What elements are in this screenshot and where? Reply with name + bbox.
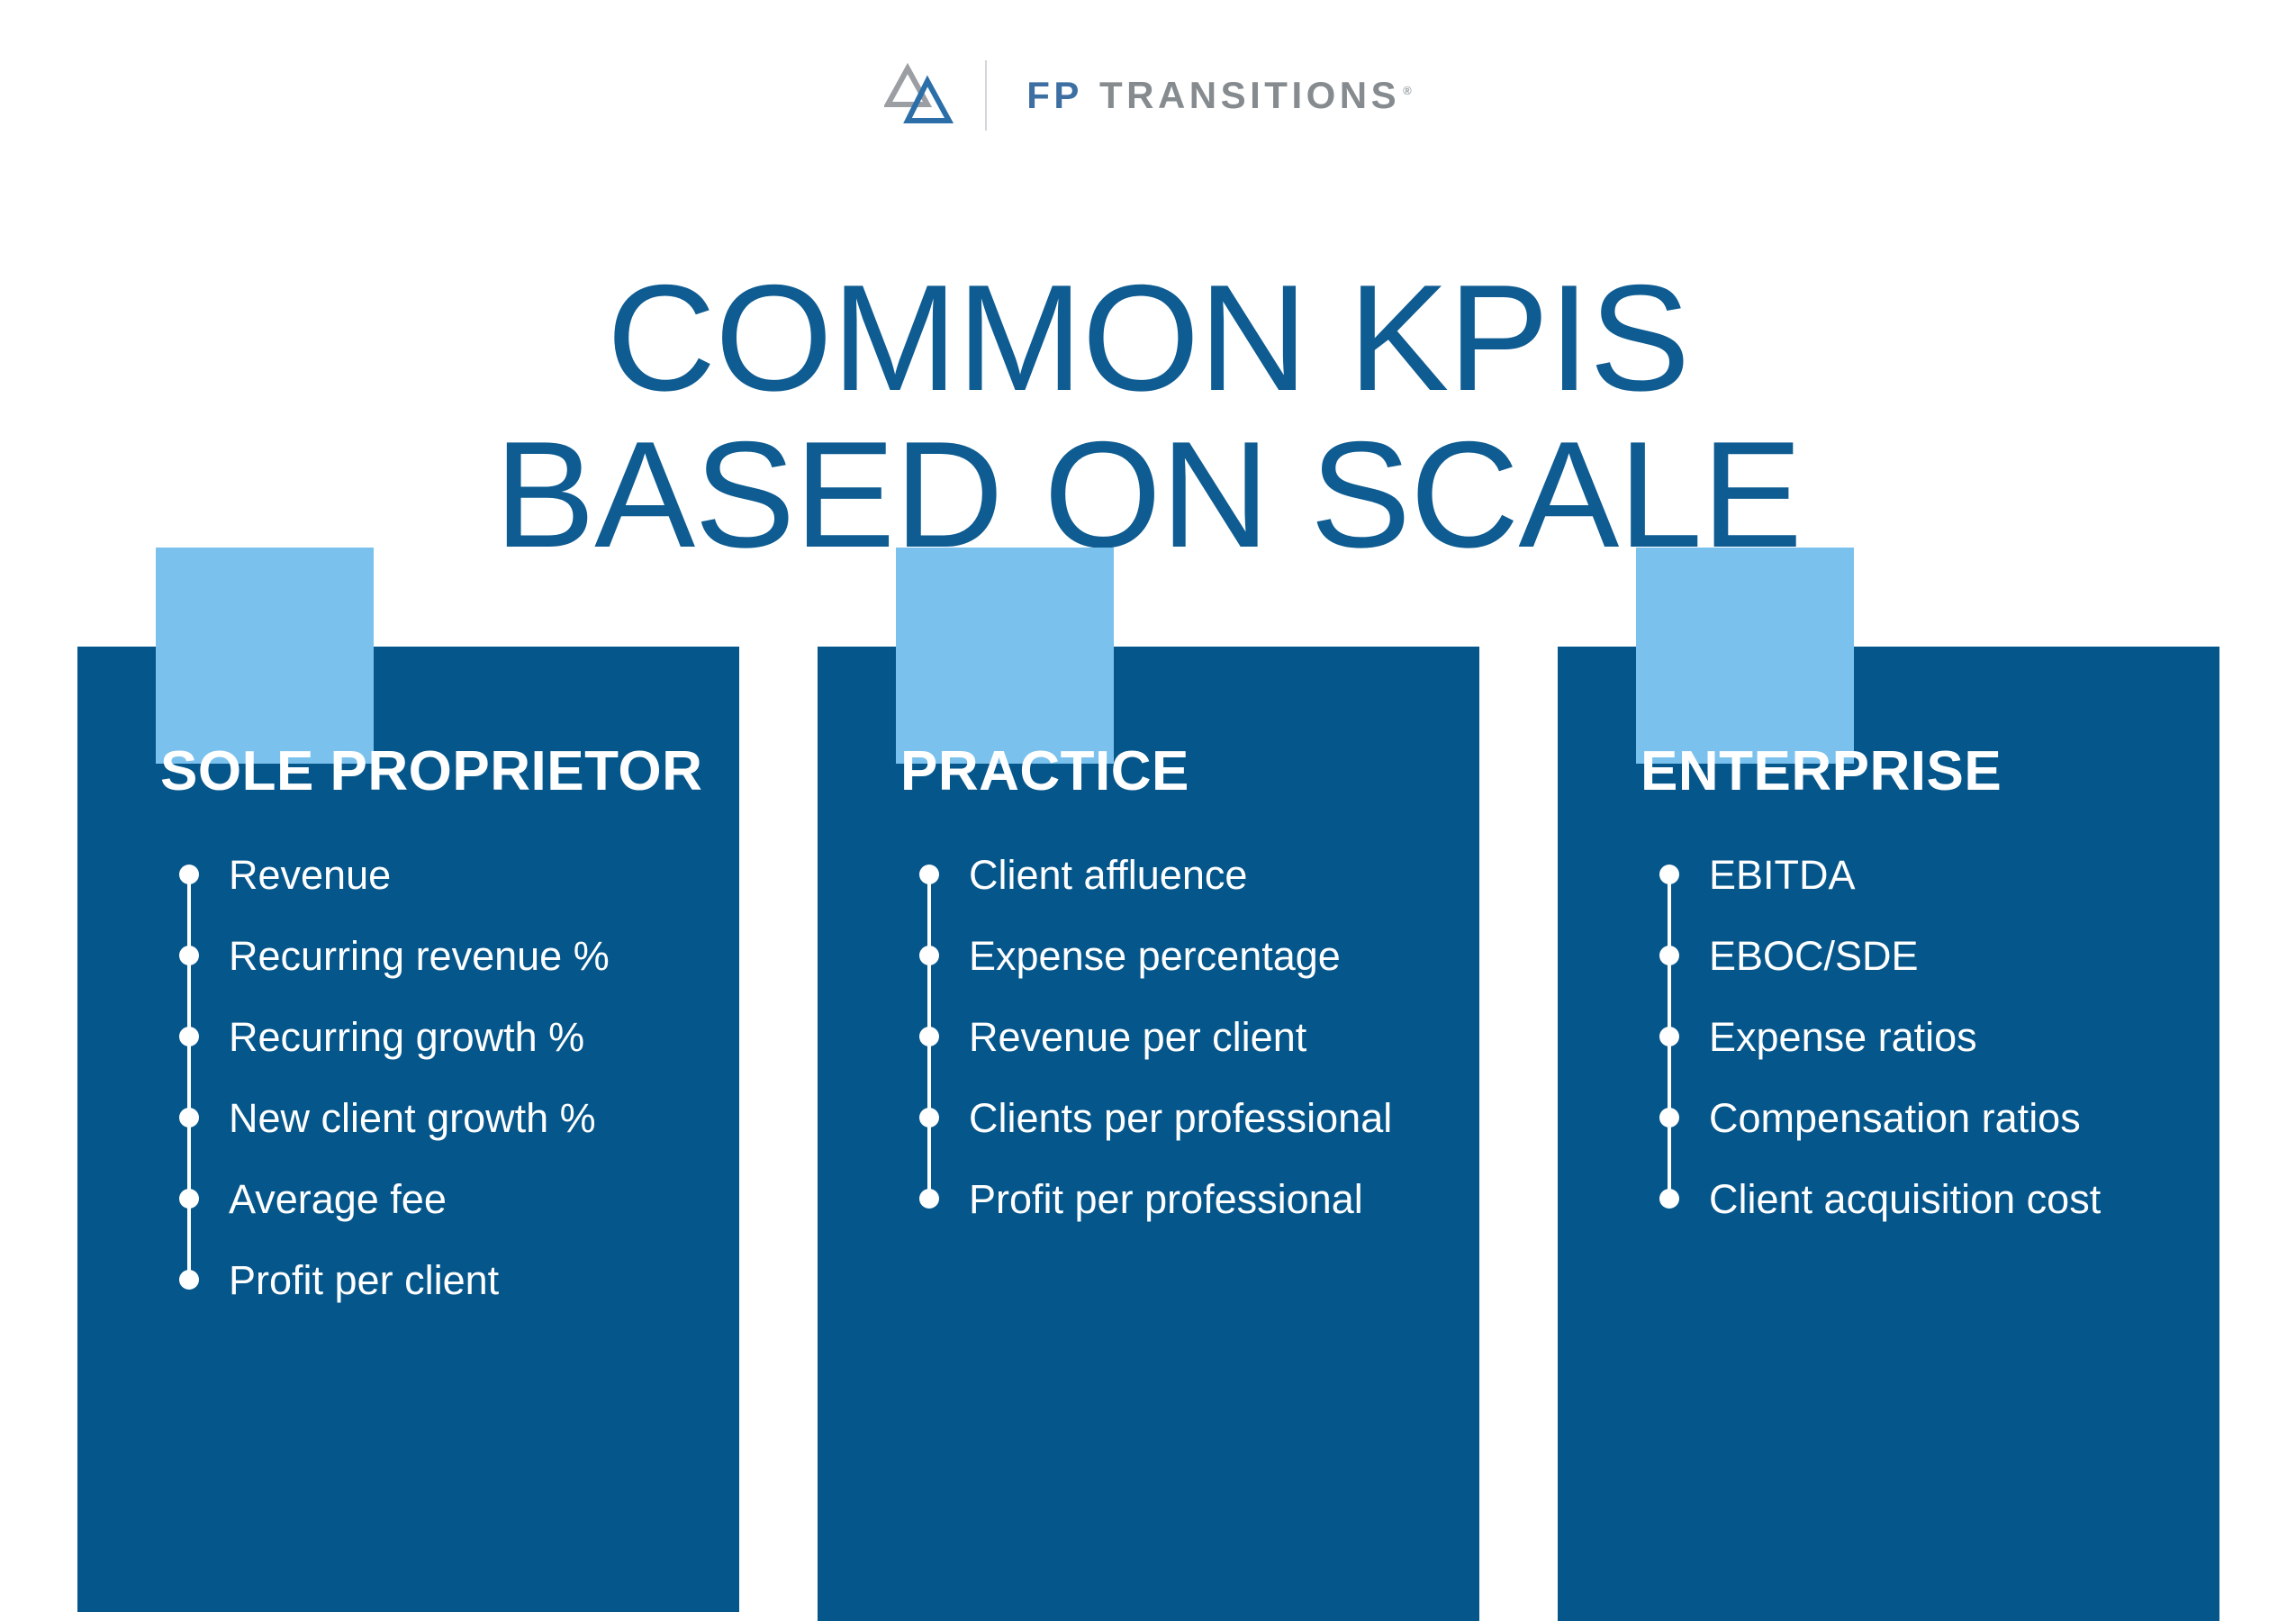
card-heading: ENTERPRISE xyxy=(1641,744,2002,800)
kpi-label: Expense ratios xyxy=(1709,1017,1977,1057)
kpi-list-item: Compensation ratios xyxy=(1655,1077,2101,1158)
kpi-list-item: Client acquisition cost xyxy=(1655,1158,2101,1239)
bullet-dot-icon xyxy=(1659,1027,1679,1046)
bullet-dot-icon xyxy=(179,1108,199,1127)
kpi-label: Revenue per client xyxy=(969,1017,1306,1057)
kpi-label: Average fee xyxy=(229,1179,447,1219)
card-heading: SOLE PROPRIETOR xyxy=(160,744,702,800)
timeline-connector xyxy=(187,874,191,955)
kpi-list-item: Revenue per client xyxy=(915,996,1392,1077)
kpi-list-item: Profit per professional xyxy=(915,1158,1392,1239)
kpi-list-item: Revenue xyxy=(175,834,610,915)
card-accent-tab xyxy=(896,548,1114,764)
bullet-dot-icon xyxy=(179,865,199,884)
bullet-dot-icon xyxy=(179,1189,199,1209)
kpi-list-item: Client affluence xyxy=(915,834,1392,915)
kpi-list: Client affluence Expense percentage Reve… xyxy=(915,834,1392,1239)
kpi-label: New client growth % xyxy=(229,1098,596,1138)
kpi-list-item: EBITDA xyxy=(1655,834,2101,915)
bullet-dot-icon xyxy=(919,1189,939,1209)
bullet-dot-icon xyxy=(179,1027,199,1046)
bullet-dot-icon xyxy=(919,865,939,884)
kpi-label: EBOC/SDE xyxy=(1709,936,1919,976)
bullet-dot-icon xyxy=(1659,1108,1679,1127)
timeline-connector xyxy=(187,955,191,1037)
kpi-list-item: Clients per professional xyxy=(915,1077,1392,1158)
timeline-connector xyxy=(187,1199,191,1280)
kpi-list-item: Expense percentage xyxy=(915,915,1392,996)
kpi-card-enterprise: ENTERPRISE EBITDA EBOC/SDE Expense ratio… xyxy=(1558,548,2219,1621)
kpi-label: Profit per professional xyxy=(969,1179,1363,1219)
kpi-label: Clients per professional xyxy=(969,1098,1392,1138)
bullet-dot-icon xyxy=(179,1270,199,1290)
kpi-card-practice: PRACTICE Client affluence Expense percen… xyxy=(818,548,1479,1621)
kpi-list-item: Average fee xyxy=(175,1158,610,1239)
bullet-dot-icon xyxy=(919,946,939,965)
timeline-connector xyxy=(927,955,931,1037)
bullet-dot-icon xyxy=(179,946,199,965)
kpi-label: Revenue xyxy=(229,855,391,895)
timeline-connector xyxy=(187,1118,191,1199)
kpi-list-item: Recurring growth % xyxy=(175,996,610,1077)
kpi-label: Profit per client xyxy=(229,1260,499,1300)
kpi-card-group: SOLE PROPRIETOR Revenue Recurring revenu… xyxy=(0,0,2296,1621)
kpi-label: Compensation ratios xyxy=(1709,1098,2081,1138)
kpi-label: Recurring revenue % xyxy=(229,936,610,976)
kpi-list: EBITDA EBOC/SDE Expense ratios Compensat… xyxy=(1655,834,2101,1239)
bullet-dot-icon xyxy=(1659,865,1679,884)
timeline-connector xyxy=(187,1037,191,1118)
bullet-dot-icon xyxy=(919,1027,939,1046)
kpi-card-sole-proprietor: SOLE PROPRIETOR Revenue Recurring revenu… xyxy=(77,548,739,1612)
bullet-dot-icon xyxy=(1659,1189,1679,1209)
timeline-connector xyxy=(1668,874,1671,955)
bullet-dot-icon xyxy=(1659,946,1679,965)
timeline-connector xyxy=(927,1118,931,1199)
kpi-label: Client affluence xyxy=(969,855,1247,895)
kpi-list-item: New client growth % xyxy=(175,1077,610,1158)
card-heading: PRACTICE xyxy=(900,744,1189,800)
kpi-label: Expense percentage xyxy=(969,936,1341,976)
timeline-connector xyxy=(1668,1037,1671,1118)
kpi-label: Client acquisition cost xyxy=(1709,1179,2101,1219)
timeline-connector xyxy=(1668,955,1671,1037)
card-accent-tab xyxy=(156,548,374,764)
kpi-label: Recurring growth % xyxy=(229,1017,584,1057)
kpi-list-item: Expense ratios xyxy=(1655,996,2101,1077)
kpi-label: EBITDA xyxy=(1709,855,1856,895)
kpi-list-item: Recurring revenue % xyxy=(175,915,610,996)
timeline-connector xyxy=(1668,1118,1671,1199)
timeline-connector xyxy=(927,874,931,955)
kpi-list-item: EBOC/SDE xyxy=(1655,915,2101,996)
timeline-connector xyxy=(927,1037,931,1118)
kpi-list: Revenue Recurring revenue % Recurring gr… xyxy=(175,834,610,1320)
card-accent-tab xyxy=(1636,548,1854,764)
kpi-list-item: Profit per client xyxy=(175,1239,610,1320)
bullet-dot-icon xyxy=(919,1108,939,1127)
